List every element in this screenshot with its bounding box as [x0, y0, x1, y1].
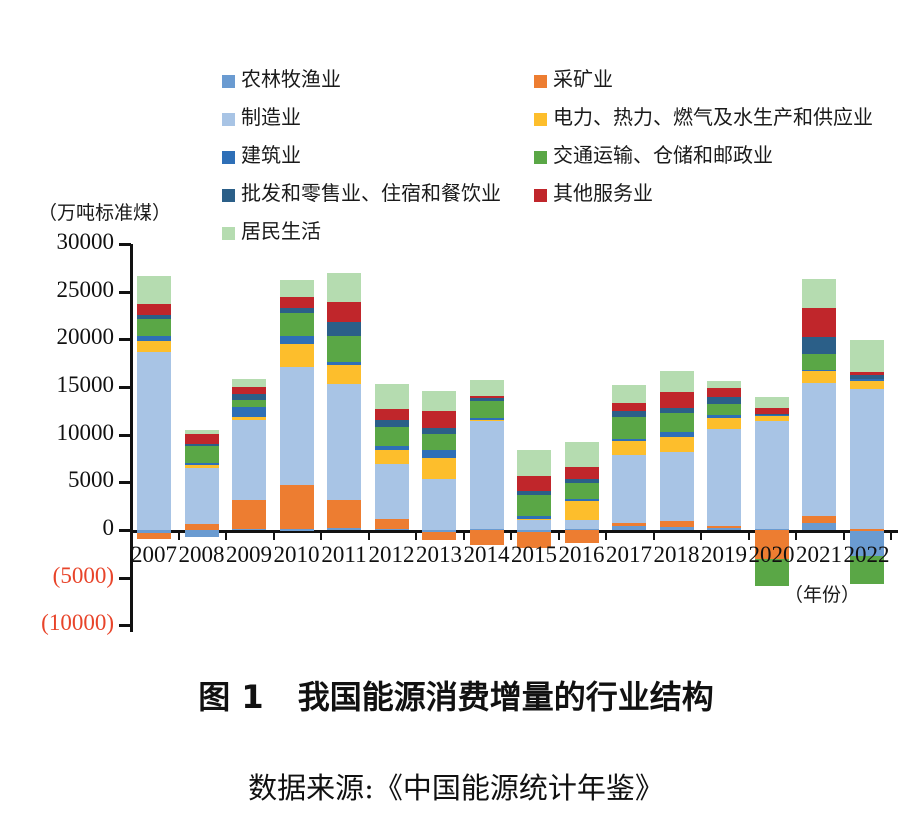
bar-segment — [755, 408, 789, 414]
bar-segment — [422, 391, 456, 411]
bar-segment — [660, 392, 694, 408]
legend-item[interactable]: 批发和零售业、住宿和餐饮业 — [222, 182, 501, 204]
x-axis-tick — [795, 530, 797, 540]
bar-segment — [802, 370, 836, 372]
bar-segment — [375, 446, 409, 450]
bar-segment — [707, 381, 741, 388]
legend-item-label: 交通运输、仓储和邮政业 — [553, 144, 773, 166]
figure-caption: 图 1 我国能源消费增量的行业结构 — [0, 672, 912, 718]
bar-segment — [470, 396, 504, 399]
bar-segment — [232, 407, 266, 417]
bar-segment — [755, 414, 789, 416]
bar-segment — [850, 372, 884, 375]
bar-stack[interactable] — [755, 230, 789, 630]
bar-segment — [517, 520, 551, 530]
bar-segment — [612, 523, 646, 526]
bar-stack[interactable] — [422, 230, 456, 630]
bar-segment — [137, 352, 171, 530]
x-axis-tick — [558, 530, 560, 540]
bar-stack[interactable] — [327, 230, 361, 630]
bar-segment — [850, 340, 884, 371]
bar-segment — [802, 516, 836, 524]
bar-segment — [707, 429, 741, 526]
bar-segment — [232, 529, 266, 531]
bar-segment — [517, 495, 551, 516]
bar-segment — [232, 387, 266, 394]
y-axis-tick-label: (10000) — [14, 610, 114, 636]
legend-swatch-icon — [534, 113, 547, 126]
x-axis-tick — [415, 530, 417, 540]
bar-segment — [612, 439, 646, 441]
legend-item[interactable]: 建筑业 — [222, 144, 301, 166]
bar-segment — [375, 464, 409, 519]
bar-segment — [565, 479, 599, 484]
bar-segment — [327, 500, 361, 528]
bar-segment — [280, 367, 314, 484]
bar-segment — [280, 308, 314, 313]
bar-segment — [327, 528, 361, 530]
y-axis-tick — [119, 577, 131, 580]
bar-segment — [327, 322, 361, 336]
y-axis-tick-label: 0 — [14, 515, 114, 541]
legend-item-label: 制造业 — [241, 106, 301, 128]
bar-segment — [517, 450, 551, 476]
bar-stack[interactable] — [137, 230, 171, 630]
bar-segment — [422, 411, 456, 427]
bar-segment — [232, 400, 266, 407]
legend-item[interactable]: 采矿业 — [534, 68, 613, 90]
plot-area: 300002500020000150001000050000(5000)(100… — [0, 230, 912, 630]
bar-segment — [612, 441, 646, 455]
chart-legend: 农林牧渔业采矿业制造业电力、热力、燃气及水生产和供应业建筑业交通运输、仓储和邮政… — [222, 68, 912, 238]
bar-segment — [137, 304, 171, 314]
bar-segment — [707, 404, 741, 414]
bar-stack[interactable] — [280, 230, 314, 630]
bar-segment — [280, 485, 314, 529]
bar-segment — [185, 446, 219, 464]
bar-segment — [280, 336, 314, 343]
bar-segment — [470, 398, 504, 400]
bar-segment — [422, 479, 456, 530]
bar-segment — [375, 519, 409, 529]
legend-item[interactable]: 交通运输、仓储和邮政业 — [534, 144, 773, 166]
bar-segment — [707, 415, 741, 419]
bar-segment — [660, 521, 694, 527]
bar-segment — [707, 526, 741, 528]
x-axis-tick — [463, 530, 465, 540]
bar-segment — [660, 452, 694, 522]
bar-segment — [660, 527, 694, 530]
bar-segment — [327, 362, 361, 364]
bar-segment — [612, 526, 646, 530]
y-axis-tick-label: 10000 — [14, 420, 114, 446]
x-axis-tick — [273, 530, 275, 540]
bar-segment — [327, 273, 361, 303]
bar-stack[interactable] — [375, 230, 409, 630]
bar-segment — [707, 397, 741, 404]
x-axis-tick — [748, 530, 750, 540]
legend-swatch-icon — [534, 151, 547, 164]
bar-segment — [185, 430, 219, 434]
bar-segment — [185, 524, 219, 530]
bar-stack[interactable] — [517, 230, 551, 630]
bar-segment — [232, 500, 266, 529]
legend-item-label: 建筑业 — [241, 144, 301, 166]
bar-segment — [280, 297, 314, 307]
y-axis-tick-label: 15000 — [14, 372, 114, 398]
bar-segment — [802, 279, 836, 309]
bar-segment — [802, 337, 836, 354]
legend-item-label: 电力、热力、燃气及水生产和供应业 — [553, 106, 873, 128]
y-axis-tick-label: (5000) — [14, 563, 114, 589]
bar-segment — [137, 341, 171, 351]
legend-swatch-icon — [222, 189, 235, 202]
bar-segment — [850, 375, 884, 380]
bar-stack[interactable] — [802, 230, 836, 630]
legend-swatch-icon — [222, 75, 235, 88]
y-axis-tick-label: 5000 — [14, 467, 114, 493]
legend-item-label: 其他服务业 — [553, 182, 653, 204]
bar-segment — [185, 434, 219, 444]
bar-segment — [565, 501, 599, 519]
bar-segment — [755, 416, 789, 421]
bar-segment — [707, 418, 741, 428]
bar-segment — [470, 380, 504, 395]
caption-title: 我国能源消费增量的行业结构 — [298, 678, 714, 716]
x-axis-tick — [178, 530, 180, 540]
legend-item[interactable]: 电力、热力、燃气及水生产和供应业 — [534, 106, 873, 128]
bar-segment — [375, 420, 409, 427]
bar-segment — [660, 408, 694, 413]
bar-segment — [612, 385, 646, 403]
bar-segment — [232, 420, 266, 500]
bar-segment — [137, 276, 171, 304]
bar-segment — [470, 401, 504, 418]
x-axis-tick — [368, 530, 370, 540]
bar-segment — [612, 455, 646, 523]
bar-segment — [660, 432, 694, 437]
figure-source: 数据来源:《中国能源统计年鉴》 — [0, 765, 912, 807]
bar-segment — [517, 491, 551, 495]
x-axis-tick — [653, 530, 655, 540]
bar-segment — [280, 280, 314, 297]
bar-segment — [327, 384, 361, 500]
bar-stack[interactable] — [612, 230, 646, 630]
y-axis-tick — [119, 624, 131, 627]
y-axis-tick-label: 30000 — [14, 229, 114, 255]
y-axis-tick — [119, 434, 131, 437]
bar-stack[interactable] — [470, 230, 504, 630]
bar-segment — [850, 529, 884, 531]
bar-segment — [280, 313, 314, 337]
bar-segment — [327, 336, 361, 363]
bar-segment — [375, 450, 409, 464]
y-axis-unit-label: （万吨标准煤） — [38, 198, 171, 225]
bar-segment — [660, 371, 694, 392]
y-axis-tick — [119, 338, 131, 341]
legend-item[interactable]: 其他服务业 — [534, 182, 653, 204]
legend-swatch-icon — [222, 151, 235, 164]
bar-segment — [850, 379, 884, 381]
legend-item-label: 农林牧渔业 — [241, 68, 341, 90]
bar-segment — [232, 394, 266, 401]
y-axis-tick-label: 25000 — [14, 277, 114, 303]
x-axis-tick — [700, 530, 702, 540]
y-axis-tick — [119, 291, 131, 294]
bar-segment — [422, 458, 456, 479]
y-axis-tick — [119, 386, 131, 389]
bar-segment — [327, 302, 361, 322]
bar-segment — [470, 420, 504, 422]
bar-segment — [137, 315, 171, 320]
figure-container: 农林牧渔业采矿业制造业电力、热力、燃气及水生产和供应业建筑业交通运输、仓储和邮政… — [0, 0, 912, 824]
bar-segment — [375, 427, 409, 446]
x-axis-tick-label: 2022 — [838, 542, 896, 568]
bar-segment — [660, 437, 694, 452]
x-axis-tick — [605, 530, 607, 540]
bar-stack[interactable] — [660, 230, 694, 630]
bar-segment — [802, 383, 836, 516]
bar-segment — [755, 397, 789, 408]
bar-segment — [707, 528, 741, 530]
bar-segment — [517, 476, 551, 491]
bar-segment — [565, 442, 599, 467]
x-axis-tick — [320, 530, 322, 540]
bar-segment — [375, 529, 409, 531]
bar-segment — [612, 403, 646, 412]
x-axis-tick — [843, 530, 845, 540]
bar-segment — [565, 483, 599, 498]
bar-segment — [232, 417, 266, 420]
x-axis-tick — [510, 530, 512, 540]
bar-segment — [375, 409, 409, 420]
y-axis-tick — [119, 243, 131, 246]
x-axis-tick — [890, 530, 892, 540]
bar-stack[interactable] — [565, 230, 599, 630]
bar-segment — [185, 530, 219, 537]
bar-segment — [802, 308, 836, 337]
bar-segment — [280, 529, 314, 531]
bar-stack[interactable] — [232, 230, 266, 630]
bar-stack[interactable] — [707, 230, 741, 630]
bar-segment — [755, 421, 789, 529]
bar-segment — [422, 450, 456, 458]
caption-number: 图 1 — [198, 678, 263, 716]
y-axis-tick — [119, 481, 131, 484]
y-axis-line — [130, 244, 133, 632]
bar-segment — [280, 344, 314, 368]
legend-item-label: 采矿业 — [553, 68, 613, 90]
bar-segment — [707, 388, 741, 398]
x-axis-tick — [225, 530, 227, 540]
bar-segment — [612, 417, 646, 439]
legend-item[interactable]: 制造业 — [222, 106, 301, 128]
bar-segment — [185, 444, 219, 446]
legend-swatch-icon — [534, 75, 547, 88]
legend-swatch-icon — [222, 113, 235, 126]
bar-segment — [185, 468, 219, 524]
bar-segment — [422, 434, 456, 450]
bar-segment — [470, 418, 504, 420]
bar-segment — [137, 533, 171, 539]
bar-segment — [565, 467, 599, 479]
bar-segment — [850, 380, 884, 389]
bar-segment — [802, 523, 836, 530]
bar-segment — [232, 379, 266, 387]
bar-segment — [802, 354, 836, 370]
bar-segment — [517, 516, 551, 518]
bar-segment — [802, 371, 836, 383]
bar-segment — [850, 389, 884, 529]
bar-segment — [185, 465, 219, 468]
bar-segment — [517, 519, 551, 521]
bar-segment — [185, 463, 219, 465]
bar-segment — [375, 384, 409, 409]
legend-item[interactable]: 农林牧渔业 — [222, 68, 341, 90]
bar-stack[interactable] — [185, 230, 219, 630]
legend-item-label: 批发和零售业、住宿和餐饮业 — [241, 182, 501, 204]
bar-segment — [137, 336, 171, 341]
legend-swatch-icon — [534, 189, 547, 202]
bar-segment — [422, 532, 456, 541]
bar-segment — [137, 319, 171, 336]
bar-segment — [470, 421, 504, 529]
bar-segment — [327, 365, 361, 385]
bar-segment — [565, 499, 599, 502]
y-axis-tick — [119, 529, 131, 532]
y-axis-tick-label: 20000 — [14, 324, 114, 350]
bar-segment — [612, 411, 646, 417]
bar-segment — [422, 428, 456, 435]
bar-stack[interactable] — [850, 230, 884, 630]
bar-segment — [660, 413, 694, 432]
bar-segment — [565, 520, 599, 530]
